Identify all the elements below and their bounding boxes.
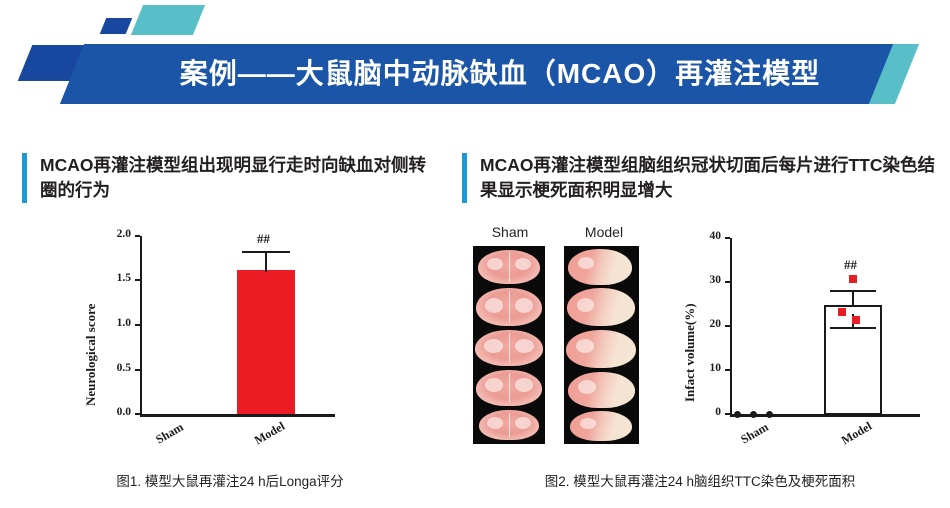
neurological-score-chart: 2.0 1.5 1.0 0.5 0.0 Neurological score #… [55,228,345,458]
brain-slice-figure: Sham Model [462,224,662,456]
error-bar-upper-model [852,291,854,307]
brain-column-label-sham: Sham [470,224,550,240]
scatter-point-model [849,275,857,283]
y-axis-title: Infact volume(%) [682,303,698,402]
y-axis-line [730,238,732,416]
y-tick-mark [135,235,140,237]
x-category-label-sham: Sham [146,416,193,452]
left-panel-title: MCAO再灌注模型组出现明显行走时向缺血对侧转圈的行为 [22,153,440,203]
page-title: 案例——大鼠脑中动脉缺血（MCAO）再灌注模型 [120,50,880,98]
y-tick-label: 2.0 [97,228,131,240]
x-category-label-sham: Sham [731,416,778,452]
y-tick-label: 1.0 [97,317,131,329]
x-axis-line [140,414,335,417]
header-banner: 案例——大鼠脑中动脉缺血（MCAO）再灌注模型 [0,0,950,125]
brain-plate-sham [473,246,545,444]
scatter-point-sham [734,411,741,418]
right-panel-title: MCAO再灌注模型组脑组织冠状切面后每片进行TTC染色结果显示梗死面积明显增大 [462,153,950,203]
x-category-label-model: Model [246,416,293,452]
scatter-point-model [838,308,846,316]
x-category-label-model: Model [833,416,880,452]
error-bar-model [265,252,267,272]
brain-plate-model [564,246,639,444]
error-bar-cap-lower-model [830,327,876,329]
brain-column-label-model: Model [564,224,644,240]
decor-teal-parallelogram-top [131,5,205,35]
figure-1-caption: 图1. 模型大鼠再灌注24 h后Longa评分 [20,470,440,490]
bar-model [237,270,295,414]
decor-small-blue-parallelogram [100,18,132,34]
y-tick-label: 0 [694,406,721,418]
significance-annotation: ## [844,257,857,273]
figure-2-caption: 图2. 模型大鼠再灌注24 h脑组织TTC染色及梗死面积 [470,470,930,490]
y-tick-mark [135,279,140,281]
y-tick-mark [725,369,730,371]
y-tick-mark [135,413,140,415]
scatter-point-model [852,316,860,324]
y-tick-mark [725,325,730,327]
y-tick-label: 20 [694,318,721,330]
y-tick-label: 0.5 [97,362,131,374]
y-tick-mark [725,237,730,239]
y-tick-label: 40 [694,230,721,242]
y-tick-mark [725,281,730,283]
y-tick-mark [135,324,140,326]
y-axis-line [140,236,142,416]
error-bar-cap-upper-model [830,290,876,292]
infarct-volume-chart: 40 30 20 10 0 Infact volume(%) ## Sham M… [672,228,942,458]
scatter-point-sham [750,411,757,418]
y-tick-label: 10 [694,362,721,374]
y-tick-mark [725,413,730,415]
y-tick-mark [135,369,140,371]
significance-annotation: ## [257,231,270,247]
y-tick-label: 30 [694,274,721,286]
error-bar-cap-model [242,251,290,253]
y-tick-label: 0.0 [97,406,131,418]
y-axis-title: Neurological score [83,304,99,406]
y-tick-label: 1.5 [97,272,131,284]
